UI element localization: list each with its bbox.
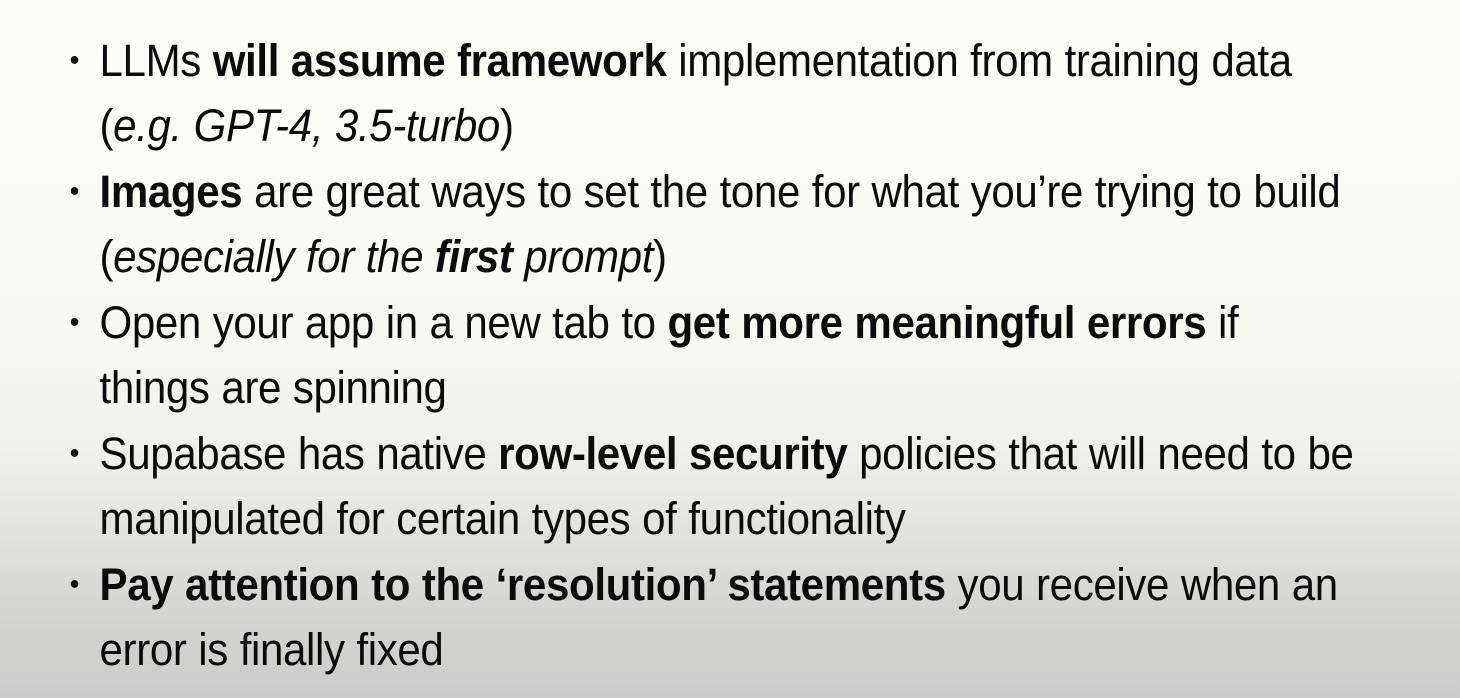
bullet-point-icon: •	[70, 421, 83, 486]
slide-canvas: • LLMs will assume framework implementat…	[0, 0, 1460, 698]
text-run: )	[653, 231, 667, 282]
text-run: )	[500, 100, 514, 151]
text-run: row-level security	[498, 428, 847, 479]
bullet-text-0: LLMs will assume framework implementatio…	[100, 28, 1355, 158]
bullet-point-icon: •	[70, 159, 83, 224]
bullet-point-icon: •	[70, 552, 83, 617]
text-run: Pay attention to the ‘resolution’ statem…	[100, 559, 946, 610]
bullet-text-2: Open your app in a new tab to get more m…	[100, 290, 1355, 420]
text-run: especially for the	[113, 231, 435, 282]
bullet-text-3: Supabase has native row-level security p…	[100, 421, 1355, 551]
text-run: prompt	[513, 231, 653, 282]
bullet-text-4: Pay attention to the ‘resolution’ statem…	[100, 552, 1355, 682]
list-item: • Images are great ways to set the tone …	[64, 159, 1354, 289]
list-item: • Pay attention to the ‘resolution’ stat…	[64, 552, 1354, 682]
text-run: Supabase has native	[100, 428, 499, 479]
text-run: e.g. GPT-4, 3.5-turbo	[113, 100, 500, 151]
text-run: Images	[100, 166, 243, 217]
text-run: will assume framework	[213, 35, 667, 86]
bullet-list: • LLMs will assume framework implementat…	[64, 28, 1444, 683]
text-run: first	[435, 231, 513, 282]
text-run: LLMs	[100, 35, 213, 86]
bullet-point-icon: •	[70, 28, 83, 93]
bullet-point-icon: •	[70, 290, 83, 355]
text-run: get more meaningful errors	[667, 297, 1206, 348]
text-run: Open your app in a new tab to	[100, 297, 668, 348]
list-item: • LLMs will assume framework implementat…	[64, 28, 1354, 158]
bullet-text-1: Images are great ways to set the tone fo…	[100, 159, 1355, 289]
list-item: • Open your app in a new tab to get more…	[64, 290, 1354, 420]
list-item: • Supabase has native row-level security…	[64, 421, 1354, 551]
